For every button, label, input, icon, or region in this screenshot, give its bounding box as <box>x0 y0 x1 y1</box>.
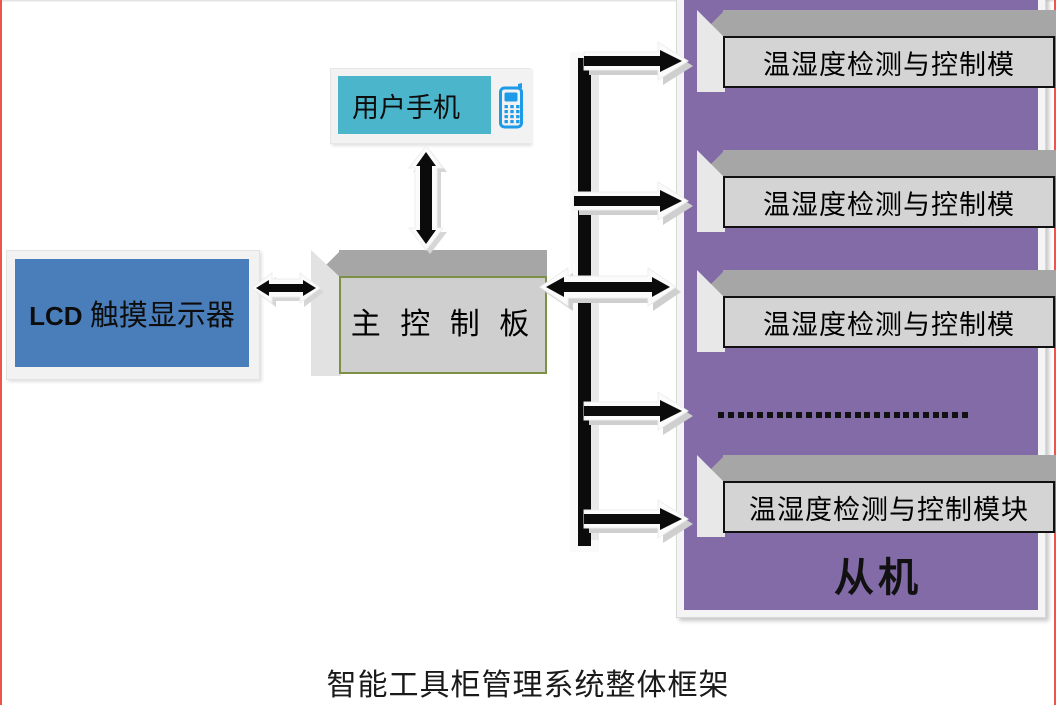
module-top-face <box>723 150 1056 176</box>
slave-module-1[interactable]: 温湿度检测与控制模 <box>697 10 1056 92</box>
ellipsis-dot <box>942 412 948 418</box>
arrow-bus-to-module-1 <box>584 42 700 104</box>
arrow-lcd-to-controller <box>252 273 328 335</box>
ellipsis-dot <box>786 412 792 418</box>
ellipsis-dot <box>913 412 919 418</box>
ellipsis-dots <box>718 408 968 422</box>
slave-module-1-label: 温湿度检测与控制模 <box>723 36 1055 88</box>
user-phone-label: 用户手机 <box>352 86 460 125</box>
module-top-face <box>723 10 1056 36</box>
arrow-phone-to-controller <box>409 146 471 258</box>
ellipsis-dot <box>835 412 841 418</box>
ellipsis-dot <box>816 412 822 418</box>
ellipsis-dot <box>952 412 958 418</box>
ellipsis-dot <box>845 412 851 418</box>
ellipsis-dot <box>767 412 773 418</box>
user-phone-block[interactable]: 用户手机 <box>330 68 530 144</box>
ellipsis-dot <box>855 412 861 418</box>
lcd-display-fill: LCD 触摸显示器 <box>15 259 249 367</box>
ellipsis-dot <box>738 412 744 418</box>
ellipsis-dot <box>757 412 763 418</box>
mobile-phone-icon <box>491 69 533 143</box>
arrow-controller-to-bus <box>540 268 686 338</box>
ellipsis-dot <box>933 412 939 418</box>
slave-module-2-label: 温湿度检测与控制模 <box>723 176 1055 228</box>
ellipsis-dot <box>962 412 968 418</box>
ellipsis-dot <box>894 412 900 418</box>
slave-module-3-label: 温湿度检测与控制模 <box>723 296 1055 348</box>
ellipsis-dot <box>806 412 812 418</box>
ellipsis-dot <box>864 412 870 418</box>
slave-module-2[interactable]: 温湿度检测与控制模 <box>697 150 1056 232</box>
slave-module-4-label: 温湿度检测与控制模块 <box>723 481 1055 533</box>
ellipsis-dot <box>825 412 831 418</box>
page-edge-rule-left <box>0 0 2 705</box>
figure-caption: 智能工具柜管理系统整体框架 <box>0 660 1056 704</box>
ellipsis-dot <box>884 412 890 418</box>
lcd-display-suffix: 触摸显示器 <box>83 300 235 332</box>
ellipsis-dot <box>923 412 929 418</box>
lcd-display-block[interactable]: LCD 触摸显示器 <box>6 250 260 380</box>
ellipsis-dot <box>728 412 734 418</box>
module-top-face <box>723 270 1056 296</box>
ellipsis-dot <box>747 412 753 418</box>
main-control-board-label: 主 控 制 板 <box>339 276 547 374</box>
ellipsis-dot <box>903 412 909 418</box>
lcd-display-label: LCD 触摸显示器 <box>29 292 235 334</box>
ellipsis-dot <box>718 412 724 418</box>
ellipsis-dot <box>777 412 783 418</box>
ellipsis-dot <box>796 412 802 418</box>
lcd-display-prefix: LCD <box>29 301 82 331</box>
module-top-face <box>723 455 1056 481</box>
diagram-canvas: 温湿度检测与控制模 温湿度检测与控制模 温湿度检测与控制模 温湿度检测与控制模块… <box>0 0 1056 705</box>
arrow-bus-to-module-3 <box>584 392 700 454</box>
slave-panel-label: 从机 <box>697 545 1056 603</box>
arrow-bus-to-module-2 <box>574 182 700 244</box>
slave-module-4[interactable]: 温湿度检测与控制模块 <box>697 455 1056 537</box>
main-control-board[interactable]: 主 控 制 板 <box>311 250 547 376</box>
slave-module-3[interactable]: 温湿度检测与控制模 <box>697 270 1056 352</box>
ellipsis-dot <box>874 412 880 418</box>
arrow-bus-to-module-4 <box>584 500 700 562</box>
